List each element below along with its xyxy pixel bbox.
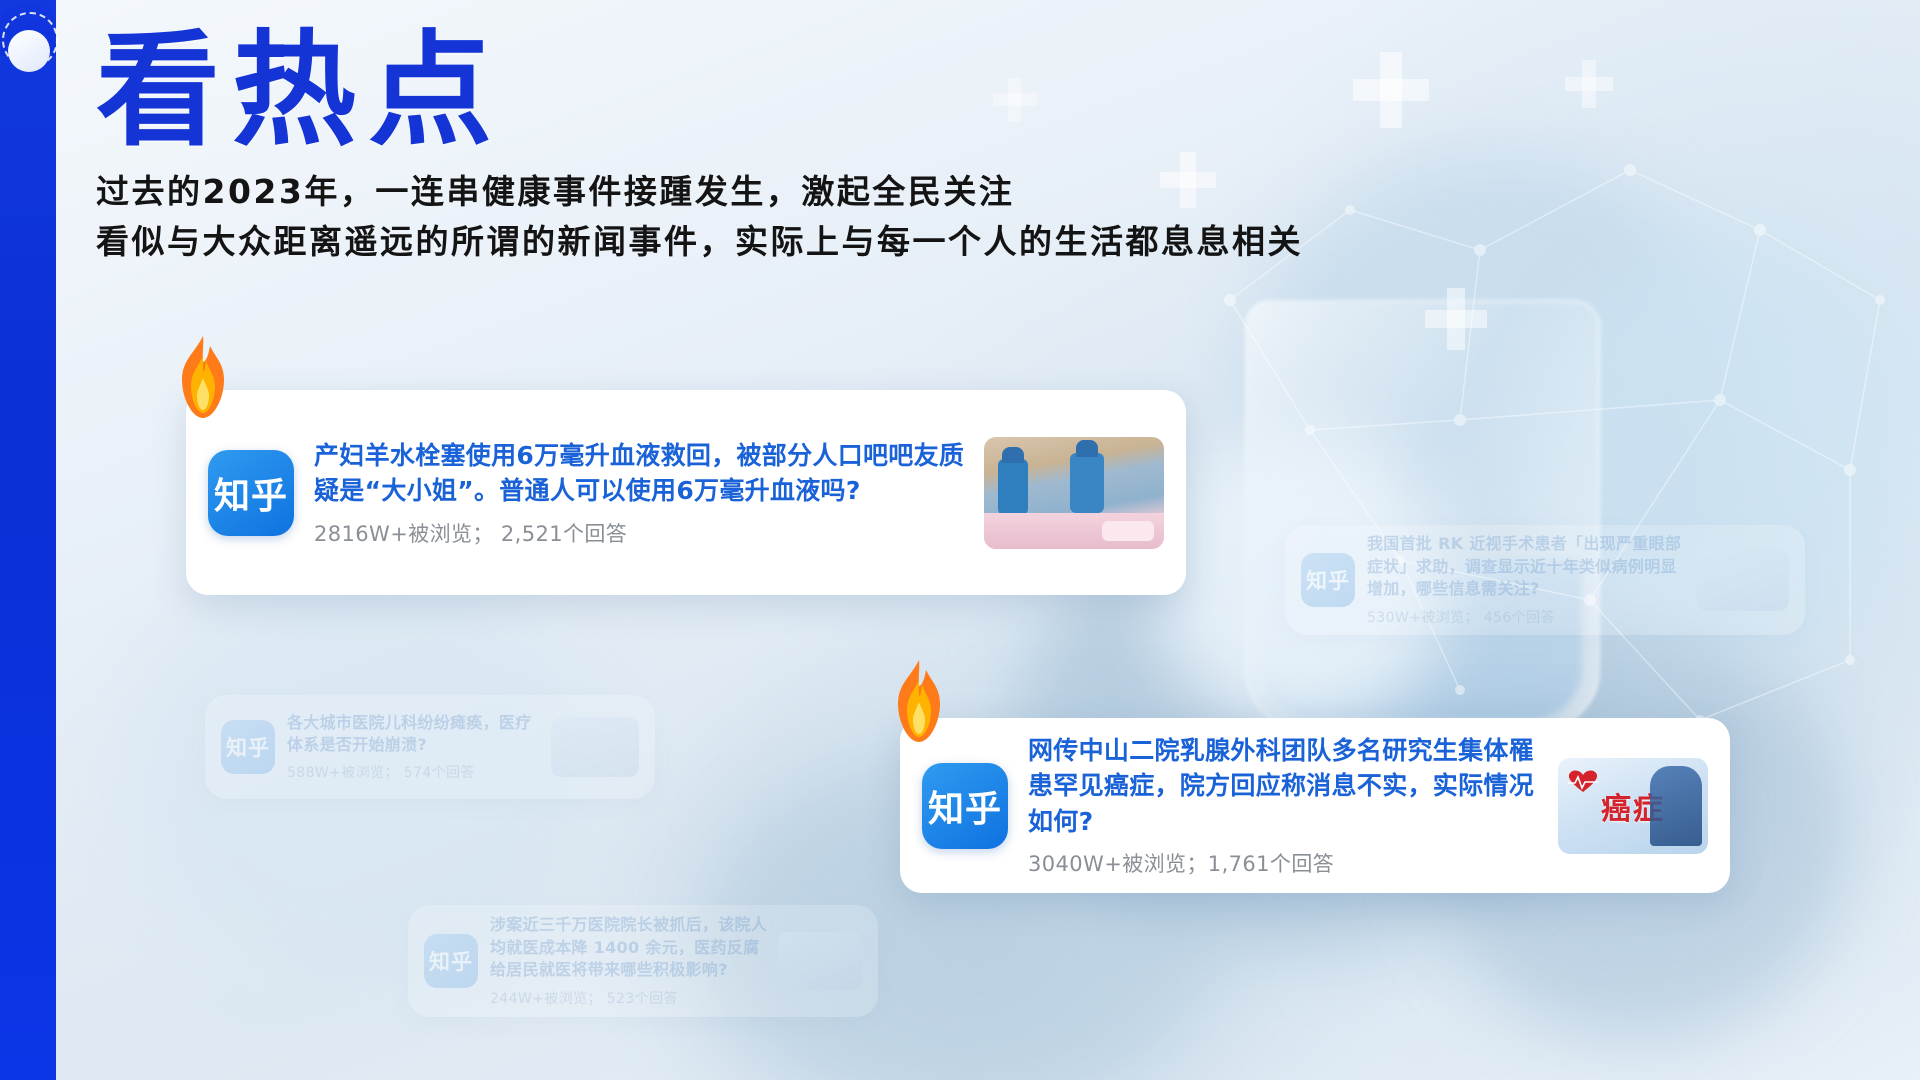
zhihu-logo-icon: 知乎: [208, 450, 294, 536]
zhihu-logo-icon: 知乎: [221, 720, 275, 774]
list-item[interactable]: 知乎 各大城市医院儿科纷纷瘫痪，医疗体系是否开始崩溃? 588W+被浏览； 57…: [205, 695, 655, 799]
zhihu-logo-icon: 知乎: [922, 763, 1008, 849]
question-title[interactable]: 涉案近三千万医院院长被抓后，该院人均就医成本降 1400 余元，医药反腐给居民就…: [490, 914, 768, 981]
thumbnail-image: 癌症: [1558, 758, 1708, 854]
zhihu-logo-icon: 知乎: [1301, 553, 1355, 607]
accent-bar-dot: [8, 30, 50, 72]
featured-list-item[interactable]: 知乎 产妇羊水栓塞使用6万毫升血液救回，被部分人口吧吧友质疑是“大小姐”。普通人…: [186, 390, 1186, 595]
question-meta: 588W+被浏览； 574个回答: [287, 762, 541, 782]
question-meta: 244W+被浏览； 523个回答: [490, 988, 768, 1008]
thumbnail-image: [551, 717, 639, 777]
subtitle-line-2: 看似与大众距离遥远的所谓的新闻事件，实际上与每一个人的生活都息息相关: [96, 218, 1303, 266]
question-title[interactable]: 我国首批 RK 近视手术患者「出现严重眼部症状」求助，调查显示近十年类似病例明显…: [1367, 533, 1687, 600]
heartbeat-icon: [1566, 768, 1600, 794]
question-meta: 3040W+被浏览；1,761个回答: [1028, 848, 1540, 878]
left-accent-bar: [0, 0, 56, 1080]
headline-block: 看热点 过去的2023年，一连串健康事件接踵发生，激起全民关注 看似与大众距离遥…: [96, 26, 1303, 266]
list-item[interactable]: 知乎 我国首批 RK 近视手术患者「出现严重眼部症状」求助，调查显示近十年类似病…: [1285, 525, 1805, 635]
question-title[interactable]: 产妇羊水栓塞使用6万毫升血液救回，被部分人口吧吧友质疑是“大小姐”。普通人可以使…: [314, 438, 966, 509]
question-meta: 2816W+被浏览； 2,521个回答: [314, 518, 966, 548]
thumbnail-image: [1697, 549, 1789, 611]
question-title[interactable]: 各大城市医院儿科纷纷瘫痪，医疗体系是否开始崩溃?: [287, 712, 541, 757]
zhihu-logo-icon: 知乎: [424, 934, 478, 988]
thumbnail-image: [984, 437, 1164, 549]
question-meta: 530W+被浏览； 456个回答: [1367, 607, 1687, 627]
featured-list-item[interactable]: 知乎 网传中山二院乳腺外科团队多名研究生集体罹患罕见癌症，院方回应称消息不实，实…: [900, 718, 1730, 893]
subtitle-line-1: 过去的2023年，一连串健康事件接踵发生，激起全民关注: [96, 168, 1303, 216]
question-title[interactable]: 网传中山二院乳腺外科团队多名研究生集体罹患罕见癌症，院方回应称消息不实，实际情况…: [1028, 733, 1540, 840]
page-title: 看热点: [96, 26, 1303, 156]
thumbnail-image: [778, 932, 862, 990]
list-item[interactable]: 知乎 涉案近三千万医院院长被抓后，该院人均就医成本降 1400 余元，医药反腐给…: [408, 905, 878, 1017]
